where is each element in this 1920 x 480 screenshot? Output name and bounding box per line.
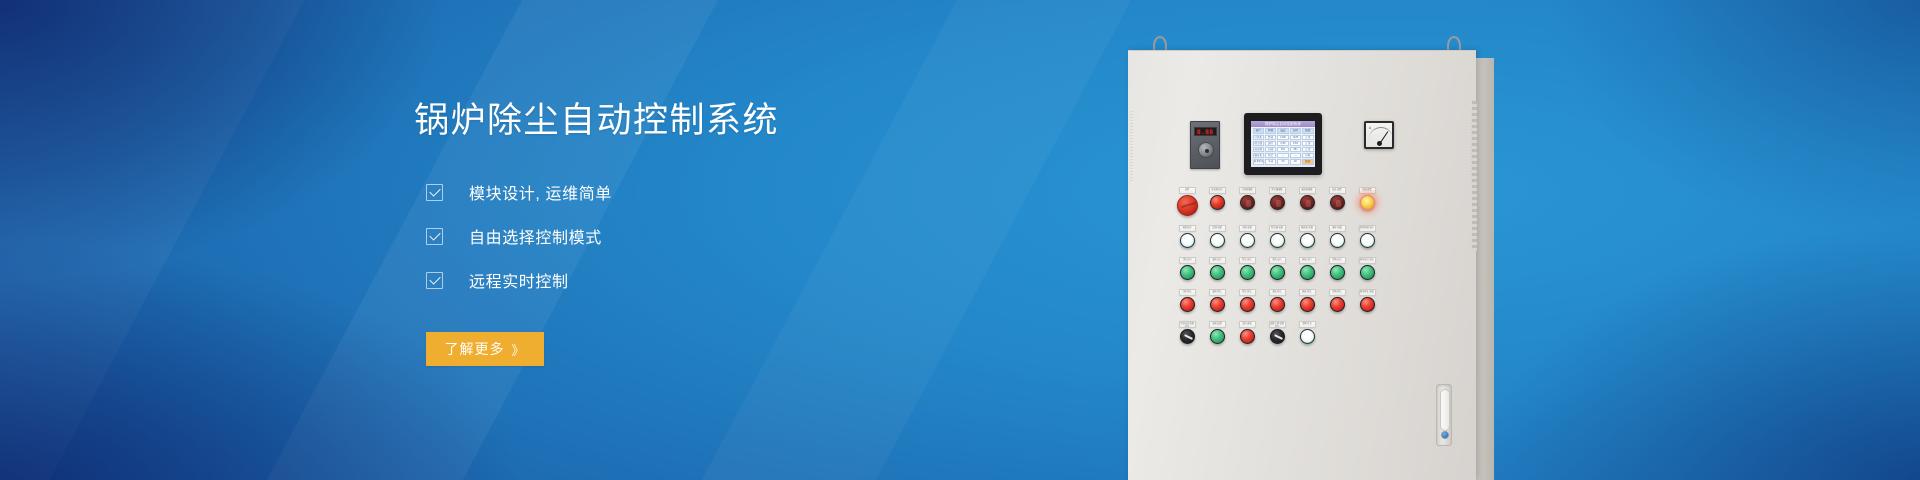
button-label: 鼓风 停止 bbox=[1209, 289, 1226, 296]
learn-more-button[interactable]: 了解更多 》 bbox=[426, 332, 544, 366]
green-lamp-icon[interactable] bbox=[1240, 265, 1255, 280]
table-cell: 引风机 bbox=[1253, 135, 1264, 140]
page-title: 锅炉除尘自动控制系统 bbox=[414, 100, 884, 142]
controller-display: 8.88 bbox=[1194, 127, 1217, 136]
button-label: 脉冲运行 指示 bbox=[1359, 257, 1376, 264]
red-lamp-icon[interactable] bbox=[1240, 329, 1255, 344]
red-lamp-icon[interactable] bbox=[1300, 297, 1315, 312]
button-label: 给料 运行 bbox=[1329, 257, 1346, 264]
button-feeder-run[interactable]: 给料 运行 bbox=[1322, 257, 1352, 280]
table-cell: 运行 bbox=[1265, 141, 1276, 146]
table-cell: --- bbox=[1290, 153, 1301, 158]
table-cell: 脉冲控制 bbox=[1253, 159, 1264, 164]
indicator-lighting-power[interactable]: 照明电源 指示 bbox=[1352, 225, 1382, 248]
green-lamp-icon[interactable] bbox=[1360, 265, 1375, 280]
table-cell: 28s bbox=[1290, 147, 1301, 152]
green-lamp-icon[interactable] bbox=[1300, 265, 1315, 280]
amber-lamp-lit-icon[interactable] bbox=[1360, 195, 1375, 210]
table-cell: 待机 bbox=[1302, 153, 1313, 158]
pushbutton-grid: 急停 总电源 指示 引风机故障 除尘器故障 bbox=[1128, 187, 1476, 353]
switch-lighting[interactable]: 照明 开关 bbox=[1292, 321, 1322, 344]
selector-local-remote[interactable]: 就地 远程 bbox=[1202, 321, 1232, 344]
marketing-copy-block: 锅炉除尘自动控制系统 模块设计, 运维简单 自由选择控制模式 远程实时控制 了解… bbox=[414, 100, 884, 366]
white-green-lamp-icon[interactable] bbox=[1240, 233, 1255, 248]
indicator-overtemp-alarm[interactable]: 超温 报警 bbox=[1352, 187, 1382, 216]
table-cell: --- bbox=[1277, 153, 1288, 158]
button-label: 清灰 运行 bbox=[1269, 257, 1286, 264]
indicator-fan-power[interactable]: 风机 电源 bbox=[1232, 225, 1262, 248]
button-row-power: 电源 指示 控制 电源 风机 电源 除尘器 电源 bbox=[1128, 225, 1476, 248]
button-label: 风机 电源 bbox=[1239, 225, 1256, 232]
selector-switch-icon[interactable] bbox=[1180, 329, 1195, 344]
button-ash-run[interactable]: 输灰 运行 bbox=[1292, 257, 1322, 280]
meter-unit-label: A bbox=[1369, 126, 1371, 130]
button-label: 引风 停止 bbox=[1179, 289, 1196, 296]
table-cell: 报警 bbox=[1302, 128, 1313, 133]
green-lamp-icon[interactable] bbox=[1330, 265, 1345, 280]
table-cell: 启动 bbox=[1265, 135, 1276, 140]
hmi-title: 锅炉除尘自动控制系统 bbox=[1265, 122, 1301, 126]
white-green-lamp-icon[interactable] bbox=[1300, 233, 1315, 248]
meter-face: A bbox=[1366, 123, 1392, 147]
button-label: 引风机故障 bbox=[1239, 187, 1256, 194]
checkmark-icon bbox=[426, 228, 443, 245]
selector-manual-auto[interactable]: 手动自动 转换开关 bbox=[1172, 321, 1202, 344]
button-cleaning-run[interactable]: 清灰 运行 bbox=[1262, 257, 1292, 280]
indicator-conveyor-fault[interactable]: 输灰机故障 bbox=[1292, 187, 1322, 216]
dark-red-lamp-icon[interactable] bbox=[1300, 195, 1315, 210]
button-dust-stop[interactable]: 除尘 停止 bbox=[1232, 289, 1262, 312]
table-cell: 停止 bbox=[1265, 153, 1276, 158]
red-lamp-icon[interactable] bbox=[1360, 297, 1375, 312]
indicator-main-power[interactable]: 电源 指示 bbox=[1172, 225, 1202, 248]
button-label: 输灰 停止 bbox=[1299, 289, 1316, 296]
button-label: 急停 bbox=[1179, 187, 1196, 194]
table-row: 清灰阀 自动 30s 28s 正常 bbox=[1253, 147, 1314, 152]
green-lamp-icon[interactable] bbox=[1180, 265, 1195, 280]
table-cell: 1200 bbox=[1277, 135, 1288, 140]
button-label: 除尘器故障 bbox=[1269, 187, 1286, 194]
button-label: 控制 电源 bbox=[1209, 225, 1226, 232]
cabinet-side-panel bbox=[1476, 58, 1494, 480]
red-lamp-icon[interactable] bbox=[1330, 297, 1345, 312]
list-item: 自由选择控制模式 bbox=[414, 224, 884, 248]
selector-switch-icon[interactable] bbox=[1270, 329, 1285, 344]
ampere-meter: A bbox=[1364, 121, 1394, 149]
control-cabinet-photo: 8.88 锅炉除尘自动控制系统 运行 状态 设定 bbox=[1128, 36, 1498, 480]
button-label: 鼓风 运行 bbox=[1209, 257, 1226, 264]
white-cyan-lamp-icon[interactable] bbox=[1180, 233, 1195, 248]
button-row-selectors: 手动自动 转换开关 就地 远程 复位 按钮 变频工频 转换开关 bbox=[1128, 321, 1476, 344]
meter-scale-icon bbox=[1369, 127, 1392, 139]
controller-knob-icon[interactable] bbox=[1198, 142, 1214, 158]
indicator-fan-fault[interactable]: 引风机故障 bbox=[1232, 187, 1262, 216]
button-label: 引风 运行 bbox=[1179, 257, 1196, 264]
green-lamp-icon[interactable] bbox=[1270, 265, 1285, 280]
chevron-right-icon: 》 bbox=[511, 340, 525, 359]
feature-list: 模块设计, 运维简单 自由选择控制模式 远程实时控制 bbox=[414, 180, 884, 292]
button-label: 输灰 运行 bbox=[1299, 257, 1316, 264]
table-cell: 60 bbox=[1277, 159, 1288, 164]
selector-vfd-line[interactable]: 变频工频 转换开关 bbox=[1262, 321, 1292, 344]
lock-icon[interactable] bbox=[1441, 431, 1449, 439]
white-green-lamp-icon[interactable] bbox=[1330, 233, 1345, 248]
button-reset[interactable]: 复位 按钮 bbox=[1232, 321, 1262, 344]
table-cell: 报警 bbox=[1302, 159, 1313, 164]
feature-label: 模块设计, 运维简单 bbox=[469, 180, 612, 204]
indicator-conveyor-power[interactable]: 输灰机 电源 bbox=[1292, 225, 1322, 248]
indicator-pulse-power[interactable]: 脉冲 电源 bbox=[1322, 225, 1352, 248]
hero-banner: 锅炉除尘自动控制系统 模块设计, 运维简单 自由选择控制模式 远程实时控制 了解… bbox=[0, 0, 1920, 480]
green-lamp-icon[interactable] bbox=[1210, 265, 1225, 280]
table-cell: 正常 bbox=[1302, 147, 1313, 152]
checkmark-icon bbox=[426, 272, 443, 289]
cabinet-front-door: 8.88 锅炉除尘自动控制系统 运行 状态 设定 bbox=[1128, 50, 1476, 480]
table-cell: 设定 bbox=[1277, 128, 1288, 133]
button-label: 除尘器 电源 bbox=[1269, 225, 1286, 232]
table-row: 输灰机 停止 --- --- 待机 bbox=[1253, 153, 1314, 158]
table-row: 除尘器 运行 0.85 0.83 正常 bbox=[1253, 141, 1314, 146]
dark-red-lamp-icon[interactable] bbox=[1240, 195, 1255, 210]
button-row-run: 引风 运行 鼓风 运行 除尘 运行 清灰 运行 bbox=[1128, 257, 1476, 280]
table-cell: 30s bbox=[1277, 147, 1288, 152]
indicator-dust-fault[interactable]: 除尘器故障 bbox=[1262, 187, 1292, 216]
button-pulse-run[interactable]: 脉冲运行 指示 bbox=[1352, 257, 1382, 280]
table-cell: 清灰阀 bbox=[1253, 147, 1264, 152]
handle-grip[interactable] bbox=[1440, 389, 1450, 431]
red-lamp-icon[interactable] bbox=[1210, 297, 1225, 312]
pushbutton-power-indicator[interactable]: 总电源 指示 bbox=[1202, 187, 1232, 216]
button-induced-draft-stop[interactable]: 引风 停止 bbox=[1172, 289, 1202, 312]
button-label: 变频工频 转换开关 bbox=[1269, 321, 1286, 328]
table-cell: 正常 bbox=[1302, 141, 1313, 146]
estop-mushroom-icon[interactable] bbox=[1177, 195, 1198, 216]
button-label: 输灰机故障 bbox=[1299, 187, 1316, 194]
button-label: 总电源 指示 bbox=[1209, 187, 1226, 194]
learn-more-label: 了解更多 bbox=[444, 339, 504, 359]
button-label: 清灰 停止 bbox=[1269, 289, 1286, 296]
table-cell: 60 bbox=[1290, 159, 1301, 164]
feature-label: 远程实时控制 bbox=[469, 268, 569, 292]
button-row-stop: 引风 停止 鼓风 停止 除尘 停止 清灰 停止 bbox=[1128, 289, 1476, 312]
hmi-touchscreen[interactable]: 锅炉除尘自动控制系统 运行 状态 设定 实时 报警 引风机 bbox=[1244, 113, 1322, 175]
list-item: 模块设计, 运维简单 bbox=[414, 180, 884, 204]
controller-display-value: 8.88 bbox=[1197, 130, 1213, 136]
button-label: 脉冲停止 按钮 bbox=[1359, 289, 1376, 296]
button-induced-draft-run[interactable]: 引风 运行 bbox=[1172, 257, 1202, 280]
button-feeder-stop[interactable]: 给料 停止 bbox=[1322, 289, 1352, 312]
red-lamp-icon[interactable] bbox=[1240, 297, 1255, 312]
button-pulse-stop[interactable]: 脉冲停止 按钮 bbox=[1352, 289, 1382, 312]
button-label: 除尘 停止 bbox=[1239, 289, 1256, 296]
meter-hub-icon bbox=[1377, 141, 1382, 146]
green-lamp-icon[interactable] bbox=[1210, 329, 1225, 344]
button-row-emergency: 急停 总电源 指示 引风机故障 除尘器故障 bbox=[1128, 187, 1476, 216]
table-cell: 1185 bbox=[1290, 135, 1301, 140]
red-lamp-icon[interactable] bbox=[1270, 297, 1285, 312]
list-item: 远程实时控制 bbox=[414, 268, 884, 292]
pushbutton-estop[interactable]: 急停 bbox=[1172, 187, 1202, 216]
button-label: 电源 指示 bbox=[1179, 225, 1196, 232]
temperature-controller[interactable]: 8.88 bbox=[1190, 121, 1220, 169]
button-ash-stop[interactable]: 输灰 停止 bbox=[1292, 289, 1322, 312]
table-cell: 运行 bbox=[1253, 128, 1264, 133]
table-cell: 0.83 bbox=[1290, 141, 1301, 146]
table-cell: 正常 bbox=[1302, 135, 1313, 140]
table-cell: 实时 bbox=[1290, 128, 1301, 133]
button-label: 脉冲 电源 bbox=[1329, 225, 1346, 232]
white-green-lamp-icon[interactable] bbox=[1270, 233, 1285, 248]
button-label: 缺水 报警 bbox=[1329, 187, 1346, 194]
dark-red-lamp-icon[interactable] bbox=[1270, 195, 1285, 210]
button-cleaning-stop[interactable]: 清灰 停止 bbox=[1262, 289, 1292, 312]
table-cell: 自动 bbox=[1265, 147, 1276, 152]
indicator-control-power[interactable]: 控制 电源 bbox=[1202, 225, 1232, 248]
button-label: 给料 停止 bbox=[1329, 289, 1346, 296]
table-cell: 状态 bbox=[1265, 128, 1276, 133]
table-row: 引风机 启动 1200 1185 正常 bbox=[1253, 135, 1314, 140]
table-row: 脉冲控制 手动 60 60 报警 bbox=[1253, 159, 1314, 164]
table-cell: 除尘器 bbox=[1253, 141, 1264, 146]
button-label: 手动自动 转换开关 bbox=[1179, 321, 1196, 328]
white-green-lamp-icon[interactable] bbox=[1300, 329, 1315, 344]
button-label: 就地 远程 bbox=[1209, 321, 1226, 328]
white-green-lamp-icon[interactable] bbox=[1360, 233, 1375, 248]
instrument-row: 8.88 锅炉除尘自动控制系统 运行 状态 设定 bbox=[1128, 109, 1476, 179]
hmi-table: 运行 状态 设定 实时 报警 引风机 启动 1200 1185 bbox=[1251, 127, 1315, 167]
checkmark-icon bbox=[426, 184, 443, 201]
dark-red-lamp-icon[interactable] bbox=[1330, 195, 1345, 210]
red-lamp-icon[interactable] bbox=[1210, 195, 1225, 210]
button-label: 超温 报警 bbox=[1359, 187, 1376, 194]
button-forced-draft-run[interactable]: 鼓风 运行 bbox=[1202, 257, 1232, 280]
white-green-lamp-icon[interactable] bbox=[1210, 233, 1225, 248]
feature-label: 自由选择控制模式 bbox=[469, 224, 602, 248]
indicator-low-water-alarm[interactable]: 缺水 报警 bbox=[1322, 187, 1352, 216]
button-label: 照明电源 指示 bbox=[1359, 225, 1376, 232]
button-label: 输灰机 电源 bbox=[1299, 225, 1316, 232]
table-cell: 输灰机 bbox=[1253, 153, 1264, 158]
door-handle[interactable] bbox=[1436, 384, 1452, 446]
table-cell: 0.85 bbox=[1277, 141, 1288, 146]
red-lamp-icon[interactable] bbox=[1180, 297, 1195, 312]
button-label: 复位 按钮 bbox=[1239, 321, 1256, 328]
button-label: 除尘 运行 bbox=[1239, 257, 1256, 264]
indicator-dust-power[interactable]: 除尘器 电源 bbox=[1262, 225, 1292, 248]
button-forced-draft-stop[interactable]: 鼓风 停止 bbox=[1202, 289, 1232, 312]
button-label: 照明 开关 bbox=[1299, 321, 1316, 328]
hmi-screen: 锅炉除尘自动控制系统 运行 状态 设定 实时 报警 引风机 bbox=[1251, 121, 1315, 167]
table-row: 运行 状态 设定 实时 报警 bbox=[1253, 128, 1314, 133]
button-dust-run[interactable]: 除尘 运行 bbox=[1232, 257, 1262, 280]
table-cell: 手动 bbox=[1265, 159, 1276, 164]
